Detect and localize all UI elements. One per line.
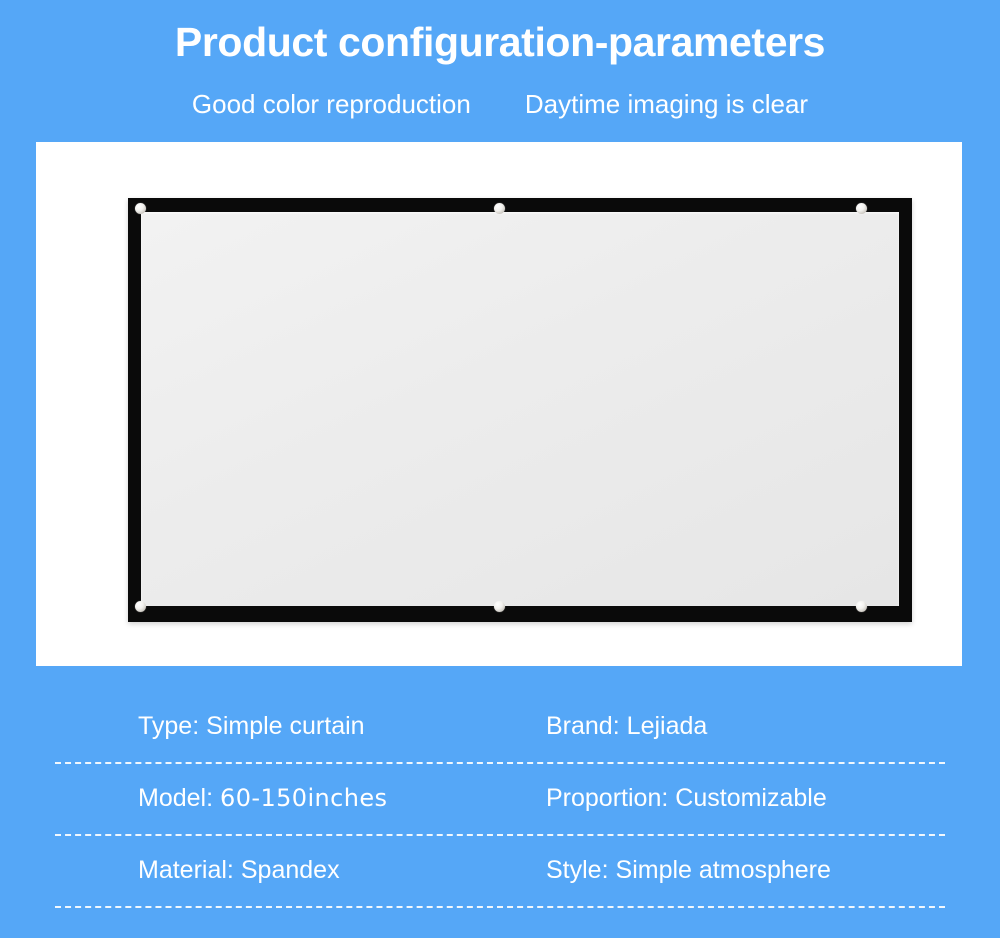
page-title: Product configuration-parameters	[0, 15, 1000, 69]
spec-row-material-style: Material: Spandex Style: Simple atmosphe…	[0, 834, 1000, 906]
spec-proportion: Proportion: Customizable	[546, 762, 827, 834]
product-image-card	[36, 142, 962, 666]
spec-style: Style: Simple atmosphere	[546, 834, 831, 906]
spec-divider-3	[55, 906, 945, 908]
spec-type-label: Type:	[138, 709, 199, 743]
spec-style-value: Simple atmosphere	[616, 853, 831, 887]
spec-style-label: Style:	[546, 853, 609, 887]
spec-model-value: 60-150inches	[213, 781, 387, 815]
spec-material-label: Material:	[138, 853, 234, 887]
projector-screen-image	[128, 198, 912, 622]
subtitle-row: Good color reproduction Daytime imaging …	[0, 88, 1000, 120]
specification-list: Type: Simple curtain Brand: Lejiada Mode…	[0, 690, 1000, 906]
spec-brand-label: Brand:	[546, 709, 620, 743]
spec-proportion-value: Customizable	[675, 781, 826, 815]
subtitle-daytime-imaging: Daytime imaging is clear	[525, 88, 808, 120]
spec-proportion-label: Proportion:	[546, 781, 668, 815]
spec-model-label: Model:	[138, 781, 213, 815]
grommet-bottom-left-icon	[135, 601, 146, 612]
subtitle-color-reproduction: Good color reproduction	[192, 88, 471, 120]
spec-divider-1	[55, 762, 945, 764]
spec-material: Material: Spandex	[138, 834, 340, 906]
grommet-bottom-center-icon	[494, 601, 505, 612]
spec-divider-2	[55, 834, 945, 836]
spec-row-model-proportion: Model: 60-150inches Proportion: Customiz…	[0, 762, 1000, 834]
grommet-top-right-icon	[856, 203, 867, 214]
spec-model: Model: 60-150inches	[138, 762, 387, 834]
grommet-top-center-icon	[494, 203, 505, 214]
page-header: Product configuration-parameters Good co…	[0, 0, 1000, 142]
grommet-top-left-icon	[135, 203, 146, 214]
spec-brand-value: Lejiada	[627, 709, 708, 743]
grommet-bottom-right-icon	[856, 601, 867, 612]
screen-surface	[141, 212, 899, 606]
spec-type-value: Simple curtain	[206, 709, 364, 743]
spec-row-type-brand: Type: Simple curtain Brand: Lejiada	[0, 690, 1000, 762]
spec-brand: Brand: Lejiada	[546, 690, 707, 762]
spec-type: Type: Simple curtain	[138, 690, 365, 762]
spec-material-value: Spandex	[241, 853, 340, 887]
